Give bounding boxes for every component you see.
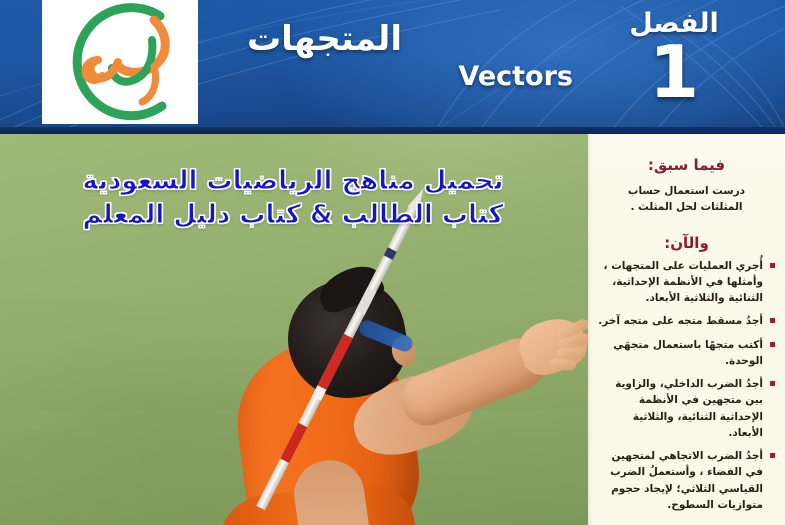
watermark-overlay: تحميل مناهج الرياضيات السعودية كتاب الطا… <box>0 164 586 233</box>
list-item: أجدُ الضرب الداخلي، والزاوية بين متجهين … <box>594 376 777 448</box>
header-bottom-strip <box>0 127 785 134</box>
list-item: أجدُ مسقط متجه على متجه آخر. <box>594 313 777 336</box>
page-header: المتجهات Vectors الفصل 1 <box>0 0 785 134</box>
previously-heading: فيما سبق: <box>588 156 785 174</box>
list-item: أُجري العمليات على المتجهات ، وأمثلها في… <box>594 258 777 314</box>
chapter-title-ar: المتجهات <box>247 22 577 58</box>
watermark-line-2: كتاب الطالب & كتاب دليل المعلم <box>0 198 586 232</box>
watermark-line-1: تحميل مناهج الرياضيات السعودية <box>0 164 586 198</box>
chapter-title-en: Vectors <box>247 62 577 92</box>
chapter-opener-page: المتجهات Vectors الفصل 1 تحميل مناهج الر… <box>0 0 785 525</box>
now-heading: والآن: <box>588 234 785 252</box>
publisher-logo <box>42 0 198 124</box>
chapter-title: المتجهات Vectors <box>247 22 577 91</box>
objectives-list: أُجري العمليات على المتجهات ، وأمثلها في… <box>588 258 785 521</box>
tumooh-logo-icon <box>42 0 198 124</box>
list-item: أكتب متجهًا باستعمال متجهَي الوحدة. <box>594 337 777 377</box>
chapter-number-block: الفصل 1 <box>599 6 749 128</box>
objectives-panel: فيما سبق: درست استعمال حساب المثلثات لحل… <box>588 134 785 525</box>
previously-body: درست استعمال حساب المثلثات لحل المثلث . <box>588 183 785 216</box>
list-item: أجدُ الضرب الاتجاهي لمتجهين في الفضاء ، … <box>594 448 777 520</box>
chapter-number-value: 1 <box>599 39 749 105</box>
